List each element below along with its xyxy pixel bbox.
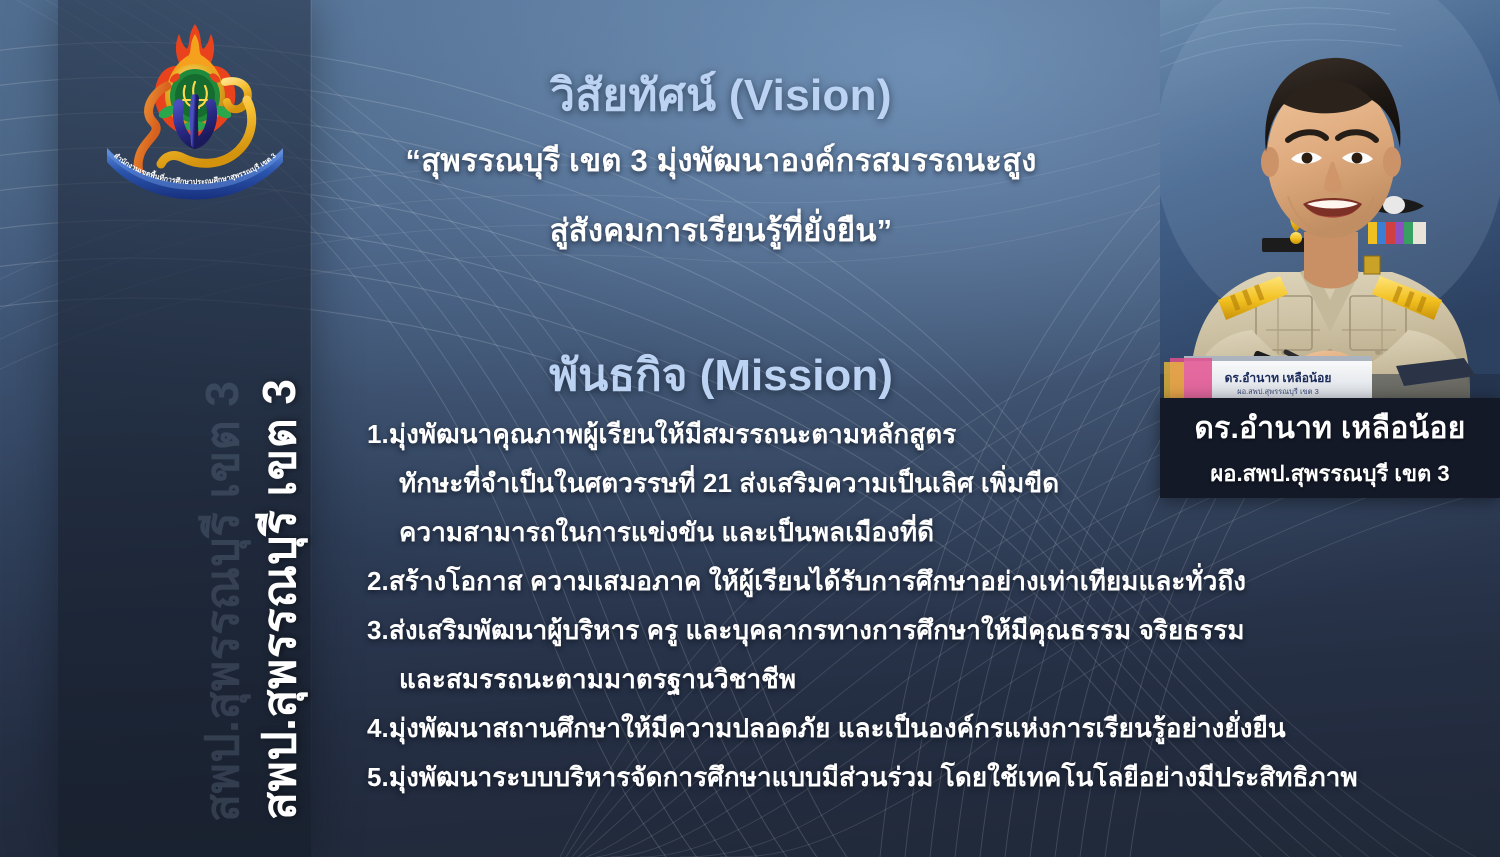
mission-item-text: ส่งเสริมพัฒนาผู้บริหาร ครู และบุคลากรทาง… [389, 615, 1245, 645]
mission-item-first-line: 2. สร้างโอกาส ความเสมอภาค ให้ผู้เรียนได้… [367, 557, 1487, 606]
desk-nameplate-subtext: ผอ.สพป.สุพรรณบุรี เขต 3 [1237, 387, 1319, 396]
vertical-title: สพป.สุพรรณบุรี เขต 3 [243, 379, 316, 820]
vision-line-2: สู่สังคมการเรียนรู้ที่ยั่งยืน” [311, 205, 1131, 255]
vertical-title-group: สพป.สุพรรณบุรี เขต 3 สพป.สุพรรณบุรี เขต … [0, 0, 311, 857]
mission-item-first-line: 5. มุ่งพัฒนาระบบบริหารจัดการศึกษาแบบมีส่… [367, 753, 1487, 802]
director-name: ดร.อำนาท เหลือน้อย [1194, 405, 1465, 452]
mission-item-text: มุ่งพัฒนาระบบบริหารจัดการศึกษาแบบมีส่วนร… [389, 762, 1358, 792]
mission-item-text: มุ่งพัฒนาสถานศึกษาให้มีความปลอดภัย และเป… [389, 713, 1286, 743]
mission-item: 5. มุ่งพัฒนาระบบบริหารจัดการศึกษาแบบมีส่… [367, 753, 1487, 802]
slide-canvas: สำนักงานเขตพื้นที่การศึกษาประถมศึกษาสุพร… [0, 0, 1500, 857]
mission-item-first-line: 3. ส่งเสริมพัฒนาผู้บริหาร ครู และบุคลากร… [367, 606, 1487, 655]
mission-item-number: 3. [367, 606, 389, 655]
director-nameplate: ดร.อำนาท เหลือน้อย ผอ.สพป.สุพรรณบุรี เขต… [1160, 398, 1500, 498]
vision-line-1: “สุพรรณบุรี เขต 3 มุ่งพัฒนาองค์กรสมรรถนะ… [311, 135, 1131, 185]
mission-item: 2. สร้างโอกาส ความเสมอภาค ให้ผู้เรียนได้… [367, 557, 1487, 606]
mission-item-first-line: 4. มุ่งพัฒนาสถานศึกษาให้มีความปลอดภัย แล… [367, 704, 1487, 753]
mission-item-text: ความสามารถในการแข่งขัน และเป็นพลเมืองที่… [367, 508, 1487, 557]
mission-item-text: สร้างโอกาส ความเสมอภาค ให้ผู้เรียนได้รับ… [389, 566, 1246, 596]
mission-item-number: 1. [367, 410, 389, 459]
mission-item: 4. มุ่งพัฒนาสถานศึกษาให้มีความปลอดภัย แล… [367, 704, 1487, 753]
director-role: ผอ.สพป.สุพรรณบุรี เขต 3 [1210, 456, 1449, 491]
mission-item-text: มุ่งพัฒนาคุณภาพผู้เรียนให้มีสมรรถนะตามหล… [389, 419, 956, 449]
desk-nameplate: ดร.อำนาท เหลือน้อย ผอ.สพป.สุพรรณบุรี เขต… [1164, 356, 1372, 400]
mission-item-number: 4. [367, 704, 389, 753]
vision-heading: วิสัยทัศน์ (Vision) [311, 60, 1131, 130]
mission-item-text: และสมรรถนะตามมาตรฐานวิชาชีพ [367, 655, 1487, 704]
mission-item-number: 5. [367, 753, 389, 802]
desk-nameplate-text: ดร.อำนาท เหลือน้อย [1225, 371, 1332, 385]
mission-item: 3. ส่งเสริมพัฒนาผู้บริหาร ครู และบุคลากร… [367, 606, 1487, 704]
mission-item-number: 2. [367, 557, 389, 606]
director-portrait-photo: ดร.อำนาท เหลือน้อย ผอ.สพป.สุพรรณบุรี เขต… [1160, 0, 1500, 400]
mission-heading: พันธกิจ (Mission) [311, 340, 1131, 410]
